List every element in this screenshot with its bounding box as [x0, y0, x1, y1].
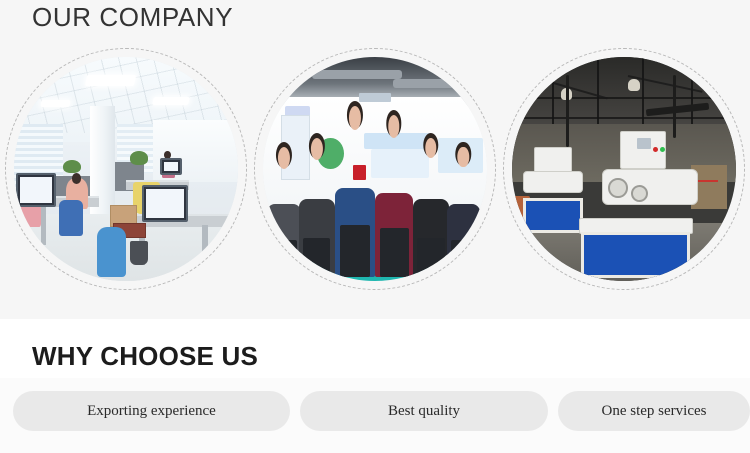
- factory-control-panel: [637, 138, 650, 149]
- office-plant: [130, 151, 148, 164]
- ceiling-light: [84, 75, 136, 86]
- company-photo-row: [0, 44, 750, 296]
- booth-duct: [312, 70, 402, 79]
- office-monitor: [142, 185, 189, 223]
- team-member: [299, 138, 335, 277]
- why-choose-us-title: WHY CHOOSE US: [32, 341, 258, 372]
- factory-photo-circle: [503, 48, 745, 290]
- team-member-legs: [451, 240, 477, 276]
- office-scene: [14, 57, 238, 281]
- factory-roller: [608, 178, 628, 198]
- team-scene: [263, 57, 487, 281]
- factory-roof-truss: [691, 57, 693, 133]
- feature-pill-one-step-services[interactable]: One step services: [558, 391, 750, 431]
- team-member-legs: [340, 225, 371, 276]
- office-chair: [59, 200, 84, 236]
- team-member: [447, 147, 481, 277]
- team-member-head: [388, 115, 399, 138]
- office-photo: [14, 57, 238, 281]
- team-member-legs: [303, 238, 330, 277]
- factory-indicator-light: [660, 147, 665, 152]
- factory-machine: [534, 147, 572, 174]
- factory-photo: [512, 57, 736, 281]
- team-member-legs: [417, 238, 444, 277]
- office-plant: [63, 160, 81, 173]
- factory-roof-beam: [512, 117, 736, 119]
- factory-roof-truss: [642, 57, 644, 133]
- factory-machine: [523, 171, 583, 193]
- office-waste-bin: [130, 241, 148, 266]
- factory-machine-base: [523, 198, 583, 233]
- team-photo-circle: [254, 48, 496, 290]
- office-monitor: [16, 173, 56, 206]
- ceiling-light: [40, 100, 70, 107]
- factory-roof-truss: [552, 57, 554, 133]
- team-member: [413, 138, 449, 277]
- office-worker-head: [72, 173, 81, 183]
- office-desk-leg: [41, 205, 47, 245]
- office-monitor: [160, 158, 182, 175]
- booth-sign: [359, 93, 390, 102]
- factory-roof: [512, 57, 736, 133]
- feature-pill-best-quality[interactable]: Best quality: [300, 391, 548, 431]
- ceiling-light: [152, 97, 190, 105]
- team-member-legs: [380, 228, 409, 276]
- why-choose-us-pill-row: Exporting experience Best quality One st…: [0, 391, 750, 431]
- our-company-title: OUR COMPANY: [32, 2, 233, 33]
- team-member-legs: [272, 240, 298, 276]
- factory-pipe: [566, 75, 569, 147]
- office-desk-leg: [202, 225, 208, 261]
- team-member-head: [311, 138, 323, 160]
- team-member: [267, 147, 301, 277]
- booth-duct: [393, 79, 460, 88]
- office-photo-circle: [5, 48, 247, 290]
- factory-roller: [631, 185, 648, 202]
- factory-indicator-light: [653, 147, 658, 152]
- team-member-head: [278, 147, 290, 169]
- our-company-section: OUR COMPANY: [0, 0, 750, 319]
- factory-scene: [512, 57, 736, 281]
- team-member: [335, 106, 375, 276]
- team-member-badge: [353, 165, 366, 181]
- team-member-head: [425, 138, 436, 159]
- why-choose-us-pill-strip: Exporting experience Best quality One st…: [0, 378, 750, 453]
- factory-lamp: [628, 79, 639, 90]
- team-member: [375, 115, 413, 276]
- why-choose-us-section: WHY CHOOSE US Exporting experience Best …: [0, 319, 750, 453]
- team-member-head: [458, 147, 469, 168]
- team-photo: [263, 57, 487, 281]
- factory-machine-base: [581, 232, 690, 278]
- factory-roof-beam: [512, 97, 736, 99]
- team-member-head: [349, 106, 361, 130]
- office-chair: [97, 227, 126, 276]
- feature-pill-exporting-experience[interactable]: Exporting experience: [13, 391, 290, 431]
- factory-pipe: [673, 75, 676, 138]
